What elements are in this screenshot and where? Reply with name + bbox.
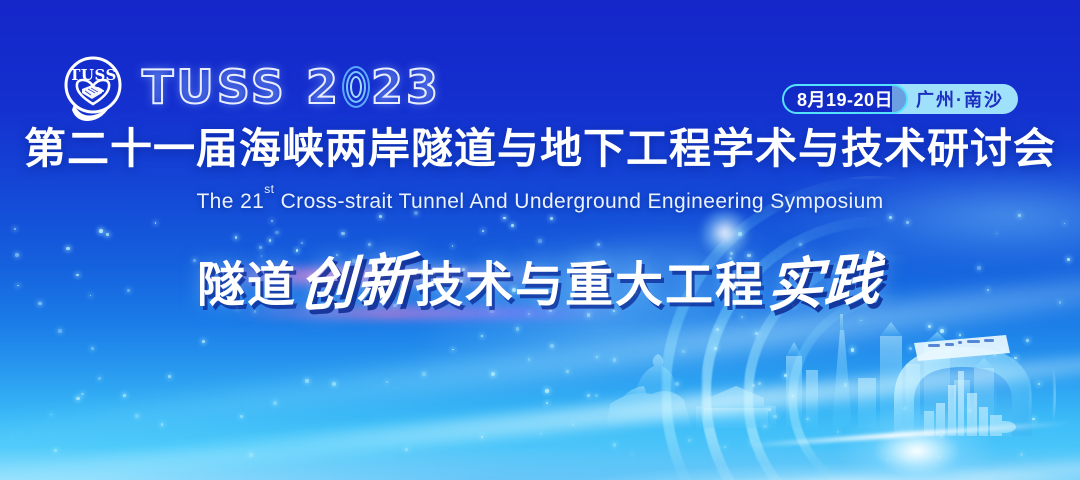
conference-banner: TUSS TUSS 223 8月19-20日 广州·南沙 第二十一届海峡两岸隧道… (0, 0, 1080, 480)
light-streak-deep (0, 432, 1080, 480)
slogan-part-2-brush: 创新 (298, 254, 414, 314)
page-subtitle-english: The 21st Cross-strait Tunnel And Undergr… (196, 190, 883, 212)
date-location-badge: 8月19-20日 广州·南沙 (782, 84, 1018, 114)
subtitle-ordinal-suffix: st (264, 182, 274, 196)
arc-ring-inner (786, 292, 998, 480)
subtitle-after: Cross-strait Tunnel And Underground Engi… (274, 190, 883, 213)
wordmark-suffix: 23 (371, 64, 441, 110)
brand-logo: TUSS TUSS 223 (58, 52, 441, 122)
wordmark-tuss-2023: TUSS 223 (142, 64, 441, 110)
tunnel-portal-arch (888, 331, 1038, 436)
slogan-part-3: 技术与重大工程 (415, 262, 765, 310)
light-burst-ray (742, 420, 1072, 448)
wordmark-prefix: TUSS 2 (142, 64, 341, 110)
slogan-part-4-brush: 实践 (766, 254, 882, 314)
subtitle-before: The 21 (196, 190, 264, 213)
light-burst (812, 392, 1022, 480)
svg-text:TUSS: TUSS (69, 66, 117, 84)
slogan-part-1: 隧道 (197, 262, 297, 310)
light-streak-2 (0, 438, 1080, 480)
handshake-heart-circle-icon: TUSS (58, 52, 128, 122)
badge-date: 8月19-20日 (782, 84, 908, 114)
light-streak-3 (0, 321, 1080, 480)
guangzhou-skyline-silhouette (600, 308, 1000, 428)
arc-ring-outer (660, 176, 1080, 480)
page-title-chinese: 第二十一届海峡两岸隧道与地下工程学术与技术研讨会 (24, 128, 1056, 170)
badge-city: 广州·南沙 (892, 84, 1018, 114)
slogan: 隧道 创新 技术与重大工程 实践 (197, 258, 883, 310)
